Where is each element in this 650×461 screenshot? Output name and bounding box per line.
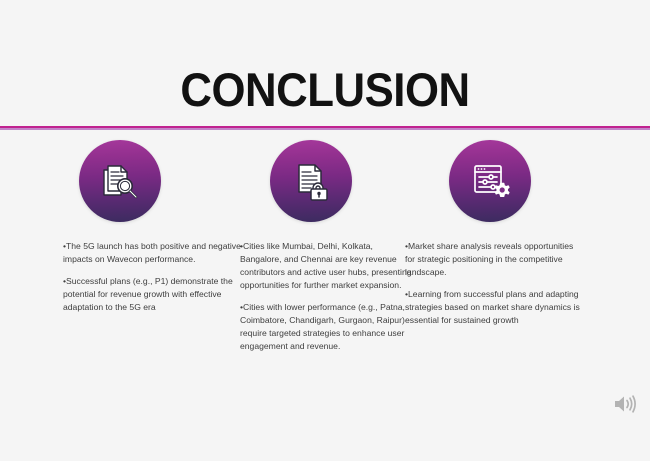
content-column-1: •The 5G launch has both positive and neg… — [63, 140, 243, 314]
document-lock-icon — [288, 158, 334, 204]
icon-badge-3 — [449, 140, 531, 222]
column-2-text: •Cities like Mumbai, Delhi, Kolkata, Ban… — [240, 240, 415, 354]
paragraph: •Successful plans (e.g., P1) demonstrate… — [63, 275, 243, 314]
page-title: CONCLUSION — [23, 66, 628, 113]
speaker-volume-icon[interactable] — [612, 392, 638, 416]
document-search-icon — [97, 158, 143, 204]
icon-badge-2 — [270, 140, 352, 222]
title-divider — [0, 126, 650, 132]
paragraph: •Learning from successful plans and adap… — [405, 288, 585, 327]
code-window-gear-icon — [467, 158, 513, 204]
content-column-2: •Cities like Mumbai, Delhi, Kolkata, Ban… — [240, 140, 415, 354]
title-area: CONCLUSION — [0, 0, 650, 128]
content-column-3: •Market share analysis reveals opportuni… — [405, 140, 585, 327]
column-1-text: •The 5G launch has both positive and neg… — [63, 240, 243, 314]
paragraph: •The 5G launch has both positive and neg… — [63, 240, 243, 266]
divider-line-secondary — [0, 128, 650, 130]
column-3-text: •Market share analysis reveals opportuni… — [405, 240, 585, 327]
paragraph: •Market share analysis reveals opportuni… — [405, 240, 585, 279]
icon-badge-1 — [79, 140, 161, 222]
content-columns: •The 5G launch has both positive and neg… — [0, 140, 650, 440]
paragraph: •Cities like Mumbai, Delhi, Kolkata, Ban… — [240, 240, 415, 292]
slide-canvas: CONCLUSION — [0, 0, 650, 461]
paragraph: •Cities with lower performance (e.g., Pa… — [240, 301, 415, 353]
